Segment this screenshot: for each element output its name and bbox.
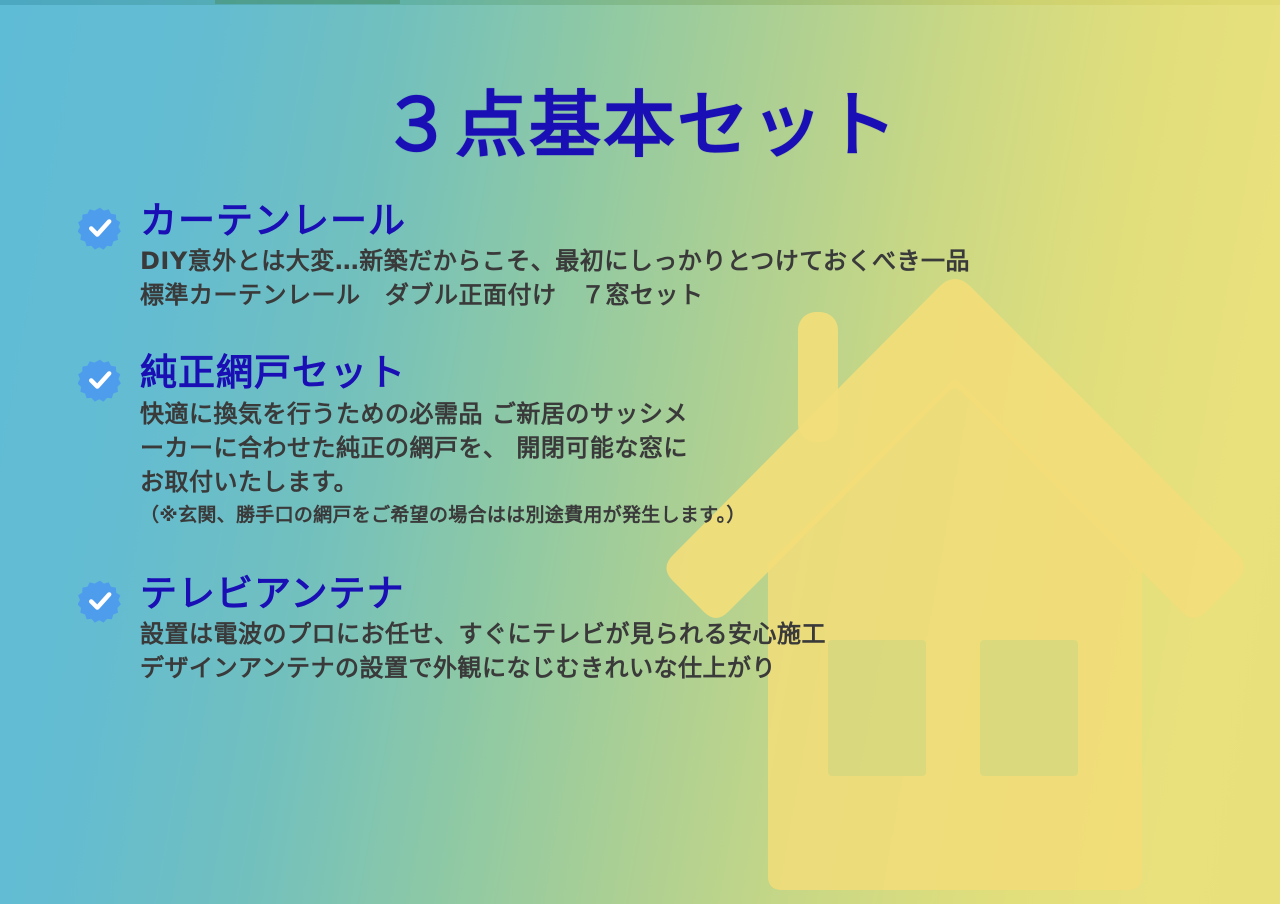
feature-description: DIY意外とは大変…新築だからこそ、最初にしっかりとつけておくべき一品 標準カー… — [140, 244, 1280, 312]
feature-heading: テレビアンテナ — [140, 573, 1280, 616]
feature-list: カーテンレール DIY意外とは大変…新築だからこそ、最初にしっかりとつけておくべ… — [0, 164, 1280, 686]
feature-note: （※玄関、勝手口の網戸をご希望の場合はは別途費用が発生します。） — [140, 502, 1280, 529]
feature-description-line: DIY意外とは大変…新築だからこそ、最初にしっかりとつけておくべき一品 — [140, 244, 1280, 278]
feature-description-line: 快適に換気を行うための必需品 ご新居のサッシメ — [140, 397, 1280, 431]
poster-content: ３点基本セット カーテンレール DIY意外とは大変…新築だからこそ、最初にしっか… — [0, 0, 1280, 685]
feature-description: 設置は電波のプロにお任せ、すぐにテレビが見られる安心施工 デザインアンテナの設置… — [140, 617, 1280, 685]
feature-description-line: デザインアンテナの設置で外観になじむきれいな仕上がり — [140, 651, 1280, 685]
promo-poster: ３点基本セット カーテンレール DIY意外とは大変…新築だからこそ、最初にしっか… — [0, 0, 1280, 904]
check-badge-icon — [78, 358, 122, 402]
feature-description-line: 標準カーテンレール ダブル正面付け ７窓セット — [140, 278, 1280, 312]
feature-description-line: 設置は電波のプロにお任せ、すぐにテレビが見られる安心施工 — [140, 617, 1280, 651]
list-item: テレビアンテナ 設置は電波のプロにお任せ、すぐにテレビが見られる安心施工 デザイ… — [0, 573, 1280, 686]
list-item: カーテンレール DIY意外とは大変…新築だからこそ、最初にしっかりとつけておくべ… — [0, 200, 1280, 313]
page-title: ３点基本セット — [0, 0, 1280, 164]
feature-heading: 純正網戸セット — [140, 352, 1280, 395]
feature-heading: カーテンレール — [140, 200, 1280, 243]
feature-description-line: お取付いたします。 — [140, 465, 1280, 499]
check-badge-icon — [78, 579, 122, 623]
feature-description-line: ーカーに合わせた純正の網戸を、 開閉可能な窓に — [140, 431, 1280, 465]
list-item: 純正網戸セット 快適に換気を行うための必需品 ご新居のサッシメ ーカーに合わせた… — [0, 352, 1280, 528]
check-badge-icon — [78, 206, 122, 250]
feature-description: 快適に換気を行うための必需品 ご新居のサッシメ ーカーに合わせた純正の網戸を、 … — [140, 397, 1280, 499]
